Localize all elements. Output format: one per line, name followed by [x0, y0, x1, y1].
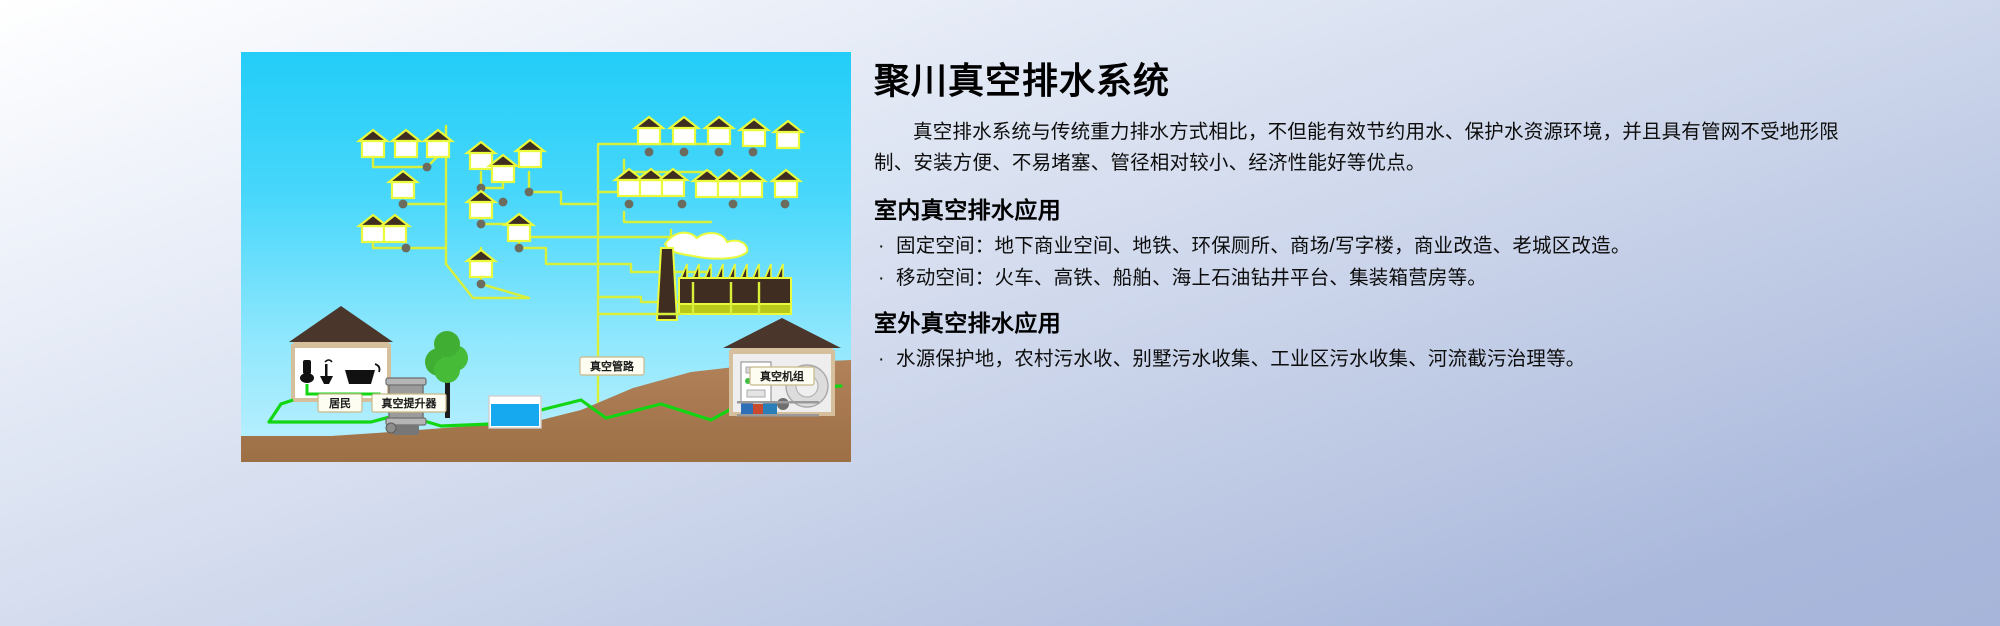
label-text: 真空机组: [760, 369, 804, 383]
bullet-dot-icon: ·: [878, 344, 885, 375]
list-item-text: 水源保护地，农村污水收、别墅污水收集、工业区污水收集、河流截污治理等。: [896, 348, 1586, 370]
list-item-text: 固定空间：地下商业空间、地铁、环保厕所、商场/写字楼，商业改造、老城区改造。: [896, 235, 1631, 257]
diagram-label-pipeline: 真空管路: [580, 357, 644, 375]
section-heading-indoor: 室内真空排水应用: [874, 191, 1964, 225]
vacuum-drainage-diagram: 居民 真空提升器 真空管路 真空机组: [241, 52, 851, 462]
intro-paragraph: 真空排水系统与传统重力排水方式相比，不但能有效节约用水、保护水资源环境，并且具有…: [874, 117, 1874, 179]
page-title: 聚川真空排水系统: [874, 58, 1964, 103]
poster-root: 居民 真空提升器 真空管路 真空机组 聚川真空排水系统 真空排水系统与传统重力排…: [0, 0, 2000, 626]
article-text-column: 聚川真空排水系统 真空排水系统与传统重力排水方式相比，不但能有效节约用水、保护水…: [874, 58, 1964, 578]
label-text: 真空提升器: [382, 396, 438, 410]
list-item: · 固定空间：地下商业空间、地铁、环保厕所、商场/写字楼，商业改造、老城区改造。: [874, 231, 1906, 262]
label-text: 居民: [329, 397, 351, 410]
list-item: · 水源保护地，农村污水收、别墅污水收集、工业区污水收集、河流截污治理等。: [874, 344, 1906, 375]
list-item-text: 移动空间：火车、高铁、船舶、海上石油钻井平台、集装箱营房等。: [896, 267, 1487, 289]
label-text: 真空管路: [590, 359, 635, 373]
collection-tank: [489, 396, 541, 428]
diagram-label-vacuum-unit: 真空机组: [750, 367, 814, 385]
diagram-label-residents: 居民: [318, 394, 362, 412]
diagram-label-lift-unit: 真空提升器: [372, 394, 446, 412]
bullet-dot-icon: ·: [878, 263, 885, 294]
bullet-list-indoor: · 固定空间：地下商业空间、地铁、环保厕所、商场/写字楼，商业改造、老城区改造。…: [874, 231, 1964, 295]
list-item: · 移动空间：火车、高铁、船舶、海上石油钻井平台、集装箱营房等。: [874, 263, 1906, 294]
bullet-dot-icon: ·: [878, 231, 885, 262]
bullet-list-outdoor: · 水源保护地，农村污水收、别墅污水收集、工业区污水收集、河流截污治理等。: [874, 344, 1964, 375]
section-heading-outdoor: 室外真空排水应用: [874, 304, 1964, 338]
